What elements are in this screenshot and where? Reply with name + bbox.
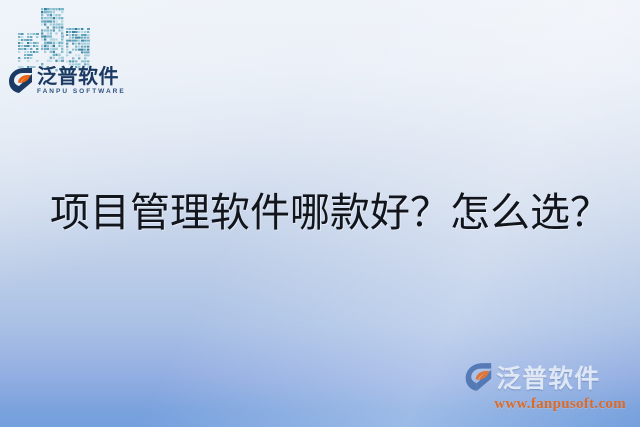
brand-logo: 泛普软件 FANPU SOFTWARE: [8, 66, 126, 96]
promo-banner: 泛普软件 FANPU SOFTWARE 项目管理软件哪款好？怎么选？ 泛普软件 …: [0, 0, 640, 427]
watermark: 泛普软件 www.fanpusoft.com: [464, 359, 626, 413]
page-title: 项目管理软件哪款好？怎么选？: [50, 180, 610, 238]
center-tower: [41, 8, 64, 72]
brand-name-en: FANPU SOFTWARE: [37, 89, 126, 96]
mosaic-skyline-graphic: [14, 0, 106, 72]
watermark-brand-name: 泛普软件: [496, 359, 600, 395]
brand-name-cn: 泛普软件: [37, 66, 126, 86]
brand-wordmark: 泛普软件 FANPU SOFTWARE: [37, 66, 126, 96]
fanpu-logo-icon: [464, 362, 494, 392]
watermark-url: www.fanpusoft.com: [494, 396, 626, 413]
watermark-logo-row: 泛普软件: [464, 359, 600, 395]
fanpu-logo-icon: [8, 67, 34, 94]
